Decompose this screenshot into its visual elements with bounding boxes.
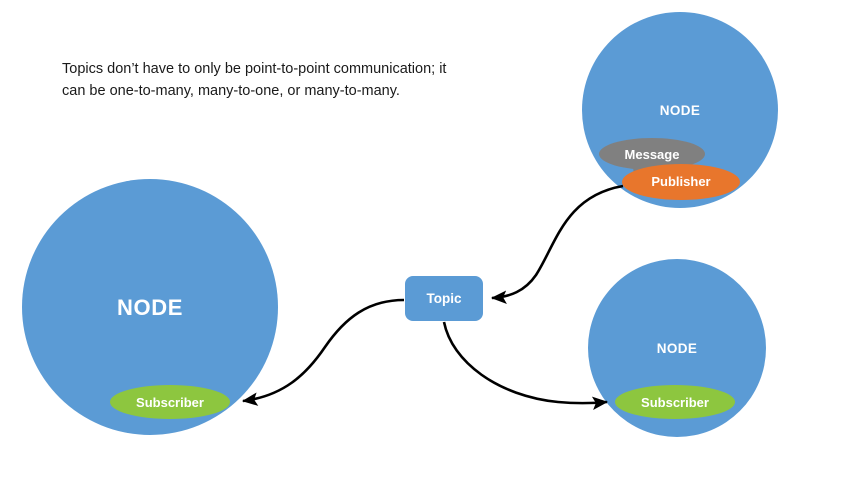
caption-text: Topics don’t have to only be point-to-po… <box>62 58 482 103</box>
slide-canvas: Topics don’t have to only be point-to-po… <box>0 0 854 480</box>
topic-box[interactable] <box>405 276 483 321</box>
subscriber-ellipse-left[interactable] <box>110 385 230 419</box>
subscriber-ellipse-bottom-right[interactable] <box>615 385 735 419</box>
publisher-ellipse[interactable] <box>622 164 740 200</box>
connector-topic-to-bottom-right-subscriber[interactable] <box>444 322 607 403</box>
connector-publisher-to-topic[interactable] <box>492 186 623 298</box>
